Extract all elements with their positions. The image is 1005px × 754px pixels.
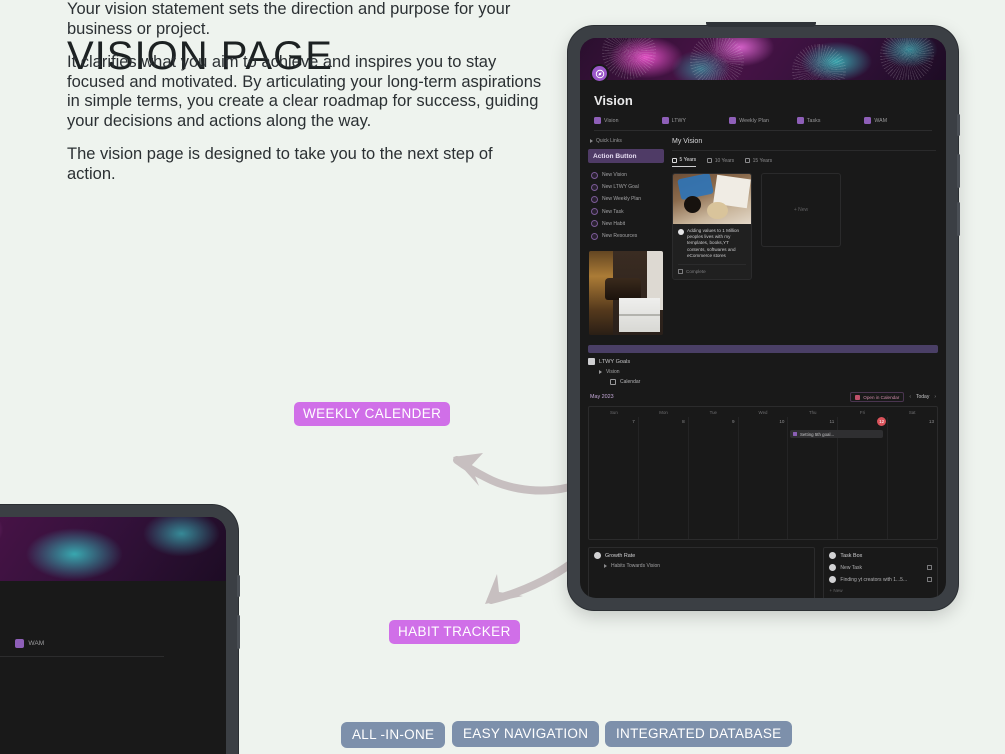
task-box-icon — [829, 552, 836, 559]
task-icon — [829, 564, 836, 571]
database-icon — [588, 358, 595, 365]
day-number: 9 — [732, 419, 735, 424]
range-tab-group: 5 Years 10 Years 15 Years — [672, 151, 936, 167]
work-area: Quick Links Action Button New Vision New… — [580, 131, 946, 335]
calendar-day-cell[interactable]: 9 — [688, 417, 738, 539]
wam-icon — [15, 639, 24, 648]
tab-vision[interactable]: Vision — [594, 117, 662, 124]
plus-circle-icon — [591, 233, 598, 240]
tab-label: Tasks — [807, 118, 821, 124]
range-tab-group-secondary: 10 Years 15 Years — [0, 683, 226, 689]
sidebar-item-label: New Vision — [602, 172, 627, 178]
top-tab-bar: Vision LTWY Weekly Plan Tasks WAM — [594, 117, 932, 131]
sidebar-item-label: New Task — [602, 209, 624, 215]
sidebar-item-new-habit[interactable]: New Habit — [588, 218, 664, 230]
plus-circle-icon — [591, 184, 598, 191]
growth-rate-title: Growth Rate — [605, 553, 635, 559]
range-tab-10-years[interactable]: 10 Years — [707, 157, 734, 167]
calendar-event-chip[interactable]: Setting 5th goal... — [790, 430, 883, 438]
sidebar-item-label: New Habit — [602, 221, 625, 227]
body-copy: Your vision statement sets the direction… — [67, 0, 545, 198]
day-number: 13 — [929, 419, 934, 424]
chevron-right-icon — [599, 370, 602, 374]
range-tab-label: 10 Years — [715, 158, 734, 164]
day-number-today: 12 — [877, 417, 886, 426]
top-tab-bar-secondary: Weekly Plan Tasks WAM — [0, 639, 164, 657]
sidebar: Quick Links Action Button New Vision New… — [580, 138, 664, 335]
tab-label: Vision — [604, 118, 619, 124]
slide-canvas: VISION PAGE Your vision statement sets t… — [0, 0, 1005, 754]
notion-page-title: Vision — [580, 80, 946, 108]
growth-rate-panel: Growth Rate Habits Towards Vision — [588, 547, 815, 598]
paragraph-3: The vision page is designed to take you … — [67, 145, 545, 184]
calendar-view-label: Calendar — [620, 379, 640, 385]
page-cover-banner-secondary — [0, 517, 226, 581]
calendar-today-button[interactable]: Today — [916, 394, 929, 400]
task-checkbox[interactable] — [927, 577, 932, 582]
tablet-device-main: Vision Vision LTWY Weekly Plan Tasks — [568, 26, 958, 610]
tab-label: Weekly Plan — [739, 118, 769, 124]
calendar-day-cell[interactable]: 8 — [638, 417, 688, 539]
calendar-toolbar: May 2023 Open in Calendar ‹ Today › — [588, 392, 938, 402]
vision-card-gallery-secondary: Adding values to 1 Million peoples lives… — [0, 697, 226, 754]
calendar-day-cell[interactable]: 13 — [887, 417, 937, 539]
plus-circle-icon — [591, 172, 598, 179]
annotation-habit-tracker: HABIT TRACKER — [389, 620, 520, 644]
tab-label: WAM — [28, 640, 44, 647]
day-name: Thu — [788, 407, 838, 417]
day-name: Sat — [887, 407, 937, 417]
growth-icon — [594, 552, 601, 559]
sidebar-image-thumbnail — [589, 251, 663, 335]
paragraph-1: Your vision statement sets the direction… — [67, 0, 545, 39]
day-name: Tue — [688, 407, 738, 417]
section-divider — [588, 345, 938, 353]
sidebar-item-new-ltwy-goal[interactable]: New LTWY Goal — [588, 181, 664, 193]
task-row[interactable]: New Task — [829, 564, 932, 571]
tab-wam[interactable]: WAM — [15, 639, 44, 648]
weekly-plan-icon — [729, 117, 736, 124]
new-vision-card-button[interactable]: + New — [761, 173, 841, 247]
day-number: 8 — [682, 419, 685, 424]
task-box-title: Task Box — [840, 553, 862, 559]
range-tab-label: 15 Years — [753, 158, 772, 164]
day-name: Sun — [589, 407, 639, 417]
content-pane: My Vision 5 Years 10 Years 15 Years — [664, 138, 946, 335]
feature-badge-all-in-one: ALL -IN-ONE — [341, 722, 445, 748]
calendar-day-cell[interactable]: 11 Setting 5th goal... — [787, 417, 837, 539]
feature-badge-easy-navigation: EASY NAVIGATION — [452, 721, 599, 747]
calendar-prev-button[interactable]: ‹ — [909, 394, 911, 400]
sidebar-item-label: New Resources — [602, 233, 637, 239]
device-button-power[interactable] — [237, 575, 240, 597]
device-button-volume-down[interactable] — [957, 202, 960, 236]
tab-label: WAM — [874, 118, 887, 124]
calendar-day-cell[interactable]: 10 — [738, 417, 788, 539]
feature-badge-integrated-database: INTEGRATED DATABASE — [605, 721, 792, 747]
chevron-right-icon — [590, 139, 593, 143]
action-button[interactable]: Action Button — [588, 149, 664, 163]
day-name: Wed — [738, 407, 788, 417]
compass-icon — [590, 64, 609, 83]
card-cover-image — [673, 174, 751, 224]
day-name: Fri — [838, 407, 888, 417]
open-in-calendar-label: Open in Calendar — [863, 395, 899, 400]
tablet-screen-secondary: Weekly Plan Tasks WAM 10 Years — [0, 517, 226, 754]
table-view-icon — [745, 158, 750, 163]
task-label: New Task — [840, 565, 923, 571]
calendar-view-row[interactable]: Calendar — [610, 379, 938, 385]
plus-circle-icon — [591, 196, 598, 203]
calendar-day-columns: 7 8 9 10 11 — [589, 417, 937, 539]
my-vision-heading: My Vision — [672, 138, 936, 151]
tablet-device-secondary: Weekly Plan Tasks WAM 10 Years — [0, 505, 238, 754]
ltwy-goals-db-row[interactable]: LTWY Goals — [588, 358, 938, 365]
tab-label: LTWY — [672, 118, 686, 124]
plus-circle-icon — [591, 208, 598, 215]
tab-wam[interactable]: WAM — [864, 117, 932, 124]
vision-card[interactable]: Adding values to 1 Million peoples lives… — [672, 173, 752, 280]
calendar-section: LTWY Goals Vision Calendar May 2023 Open — [588, 358, 938, 540]
sidebar-item-label: New Weekly Plan — [602, 196, 641, 202]
range-tab-15-years[interactable]: 15 Years — [745, 157, 772, 167]
day-number: 7 — [632, 419, 635, 424]
event-dot-icon — [793, 432, 797, 436]
card-text: Adding values to 1 Million peoples lives… — [687, 228, 746, 259]
task-icon — [829, 576, 836, 583]
sidebar-quick-links-label: Quick Links — [596, 138, 622, 144]
habits-towards-vision-row[interactable]: Habits Towards Vision — [604, 563, 809, 569]
vision-view-row[interactable]: Vision — [599, 369, 938, 375]
device-button-volume-up[interactable] — [957, 154, 960, 188]
sidebar-item-new-resources[interactable]: New Resources — [588, 230, 664, 242]
range-tab-label: 5 Years — [680, 157, 697, 163]
sidebar-item-new-vision[interactable]: New Vision — [588, 169, 664, 181]
tablet-screen: Vision Vision LTWY Weekly Plan Tasks — [580, 38, 946, 598]
calendar-week-grid: Sun Mon Tue Wed Thu Fri Sat 7 8 — [588, 406, 938, 540]
device-button-volume-up[interactable] — [237, 615, 240, 649]
day-number: 10 — [779, 419, 784, 424]
day-name: Mon — [639, 407, 689, 417]
ltwy-goals-label: LTWY Goals — [599, 359, 630, 365]
task-row[interactable]: Finding yt creators with 1...5... — [829, 576, 932, 583]
annotation-weekly-calender: WEEKLY CALENDER — [294, 402, 450, 426]
tab-ltwy[interactable]: LTWY — [662, 117, 730, 124]
sidebar-item-new-weekly-plan[interactable]: New Weekly Plan — [588, 193, 664, 205]
tab-weekly-plan[interactable]: Weekly Plan — [729, 117, 797, 124]
wam-icon — [864, 117, 871, 124]
tab-tasks[interactable]: Tasks — [797, 117, 865, 124]
bottom-panels: Growth Rate Habits Towards Vision Task B… — [588, 547, 938, 598]
calendar-month-label: May 2023 — [590, 394, 614, 400]
calendar-day-cell[interactable]: 7 — [589, 417, 638, 539]
plus-circle-icon — [591, 220, 598, 227]
tasks-icon — [797, 117, 804, 124]
paragraph-2: It clarifies what you aim to achieve and… — [67, 53, 545, 131]
open-in-calendar-button[interactable]: Open in Calendar — [850, 392, 904, 402]
range-tab-5-years[interactable]: 5 Years — [672, 157, 696, 167]
sidebar-quick-links-header[interactable]: Quick Links — [588, 138, 664, 149]
table-view-icon — [707, 158, 712, 163]
sidebar-item-label: New LTWY Goal — [602, 184, 639, 190]
sidebar-item-new-task[interactable]: New Task — [588, 206, 664, 218]
vision-card-gallery: Adding values to 1 Million peoples lives… — [672, 167, 936, 280]
page-cover-banner — [580, 38, 946, 80]
task-box-panel: Task Box New Task Finding yt creators wi… — [823, 547, 938, 598]
chevron-right-icon — [604, 564, 607, 568]
task-checkbox[interactable] — [927, 565, 932, 570]
ltwy-icon — [662, 117, 669, 124]
habits-towards-vision-label: Habits Towards Vision — [611, 563, 660, 569]
calendar-next-button[interactable]: › — [934, 394, 936, 400]
table-view-icon — [672, 158, 677, 163]
task-box-header[interactable]: Task Box — [829, 552, 932, 559]
event-label: Setting 5th goal... — [800, 432, 834, 437]
card-footer-label: Complete — [686, 269, 706, 274]
vision-icon — [594, 117, 601, 124]
vision-view-label: Vision — [606, 369, 620, 375]
day-number: 11 — [830, 419, 835, 424]
calendar-day-header-row: Sun Mon Tue Wed Thu Fri Sat — [589, 407, 937, 417]
card-check-icon — [678, 229, 684, 235]
checkbox-icon[interactable] — [678, 269, 683, 274]
task-label: Finding yt creators with 1...5... — [840, 577, 923, 583]
growth-rate-header[interactable]: Growth Rate — [594, 552, 809, 559]
calendar-icon — [610, 379, 616, 385]
new-task-button[interactable]: + New — [829, 588, 932, 593]
device-button-power[interactable] — [957, 114, 960, 136]
calendar-app-icon — [855, 395, 860, 400]
